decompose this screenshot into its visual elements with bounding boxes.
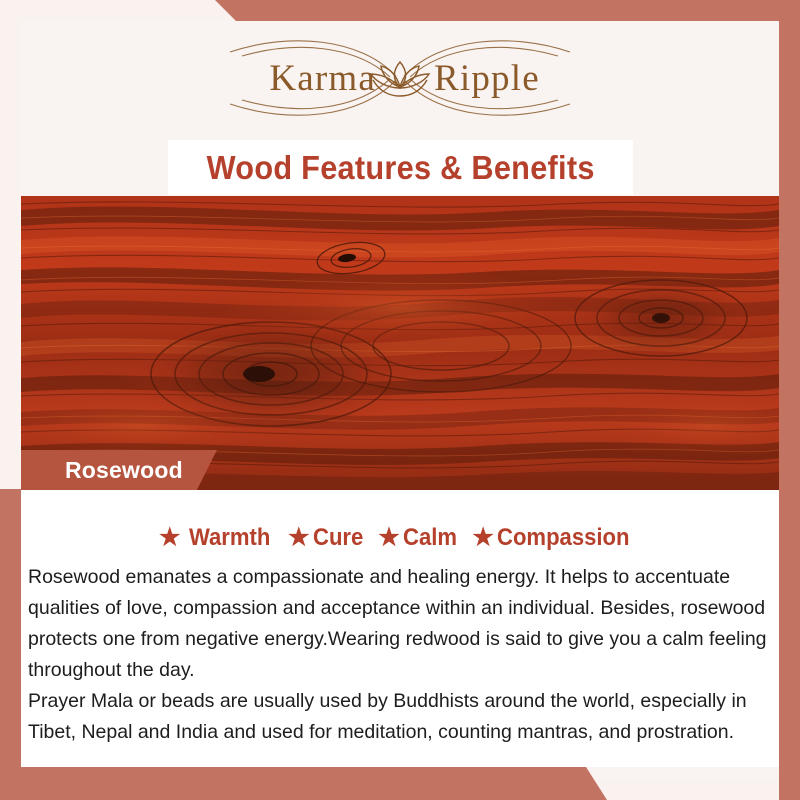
brand-logo-graphic: Karma Ripple xyxy=(200,30,600,130)
keyword-calm: ★ Calm xyxy=(378,524,461,552)
star-icon: ★ xyxy=(288,526,310,550)
frame-accent-right xyxy=(779,0,800,800)
wood-type-banner: Rosewood xyxy=(21,450,217,490)
description-text: Rosewood emanates a compassionate and he… xyxy=(28,562,776,748)
keyword-label: Cure xyxy=(313,524,363,552)
keyword-cure: ★ Cure xyxy=(288,524,367,552)
rosewood-photo xyxy=(21,196,779,490)
wood-type-label: Rosewood xyxy=(65,457,183,484)
description-paragraph-2: Prayer Mala or beads are usually used by… xyxy=(28,686,776,748)
star-icon: ★ xyxy=(378,526,400,550)
description-paragraph-1: Rosewood emanates a compassionate and he… xyxy=(28,562,776,686)
brand-logo: Karma Ripple xyxy=(0,22,800,137)
keyword-label: Calm xyxy=(403,524,457,552)
keyword-warmth: ★ Warmth xyxy=(159,524,277,552)
keyword-compassion: ★ Compassion xyxy=(472,524,641,552)
benefit-keyword-row: ★ Warmth ★ Cure ★ Calm ★ Compassion xyxy=(21,524,779,552)
frame-accent-top xyxy=(0,0,800,21)
keyword-label: Warmth xyxy=(189,524,270,552)
page-title: Wood Features & Benefits xyxy=(206,149,594,187)
brand-name-right: Ripple xyxy=(434,58,540,99)
brand-name-left: Karma xyxy=(269,58,376,99)
rosewood-grain-icon xyxy=(21,196,779,490)
star-icon: ★ xyxy=(159,526,181,550)
infographic-page: Karma Ripple Wood Features & Benefits xyxy=(0,0,800,800)
star-icon: ★ xyxy=(472,526,494,550)
lotus-flower-icon xyxy=(371,62,429,96)
frame-accent-left xyxy=(0,489,21,800)
keyword-label: Compassion xyxy=(497,524,630,552)
title-banner: Wood Features & Benefits xyxy=(168,140,633,195)
